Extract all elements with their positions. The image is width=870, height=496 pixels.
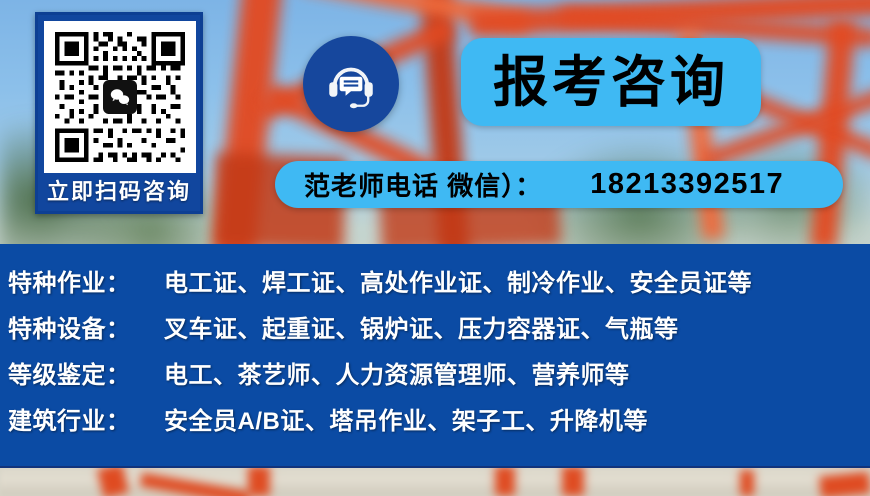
service-label: 建筑行业： (8, 401, 148, 436)
steel-beam (248, 466, 270, 496)
services-panel: 特种作业： 电工证、焊工证、高处作业证、制冷作业、安全员证等 特种设备： 叉车证… (0, 244, 870, 468)
support-headset-badge[interactable] (303, 36, 399, 132)
service-row: 特种作业： 电工证、焊工证、高处作业证、制冷作业、安全员证等 (8, 263, 870, 309)
title-text: 报考咨询 (493, 55, 729, 110)
contact-label: 范老师电话 微信）： (304, 166, 542, 203)
service-value: 叉车证、起重证、锅炉证、压力容器证、气瓶等 (164, 309, 679, 344)
background-photo-bottom (0, 466, 870, 496)
qr-card[interactable]: 立即扫码咨询 (35, 12, 203, 214)
steel-beam (562, 466, 584, 496)
steel-beam (97, 463, 129, 496)
service-label: 特种作业： (8, 263, 148, 298)
registration-consult-button[interactable]: 报考咨询 (461, 38, 761, 126)
steel-beam (140, 473, 251, 496)
service-row: 建筑行业： 安全员A/B证、塔吊作业、架子工、升降机等 (8, 401, 870, 447)
service-row: 特种设备： 叉车证、起重证、锅炉证、压力容器证、气瓶等 (8, 309, 870, 355)
service-row: 等级鉴定： 电工、茶艺师、人力资源管理师、营养师等 (8, 355, 870, 401)
service-value: 电工、茶艺师、人力资源管理师、营养师等 (164, 355, 630, 390)
phone-number[interactable]: 18213392517 (590, 168, 784, 201)
contact-bar[interactable]: 范老师电话 微信）： 18213392517 (275, 161, 843, 208)
steel-beam (819, 471, 870, 496)
qr-code-area[interactable] (44, 21, 196, 173)
service-value: 安全员A/B证、塔吊作业、架子工、升降机等 (164, 401, 648, 436)
headset-support-icon (322, 55, 380, 113)
service-label: 特种设备： (8, 309, 148, 344)
service-value: 电工证、焊工证、高处作业证、制冷作业、安全员证等 (164, 263, 752, 298)
qr-label: 立即扫码咨询 (38, 171, 200, 209)
wechat-icon (103, 80, 137, 114)
promo-poster: 立即扫码咨询 报考咨询 范老师电话 微信）： 18213392517 特种作业： (0, 0, 870, 496)
steel-beam (740, 470, 754, 496)
steel-beam (495, 466, 515, 496)
service-label: 等级鉴定： (8, 355, 148, 390)
